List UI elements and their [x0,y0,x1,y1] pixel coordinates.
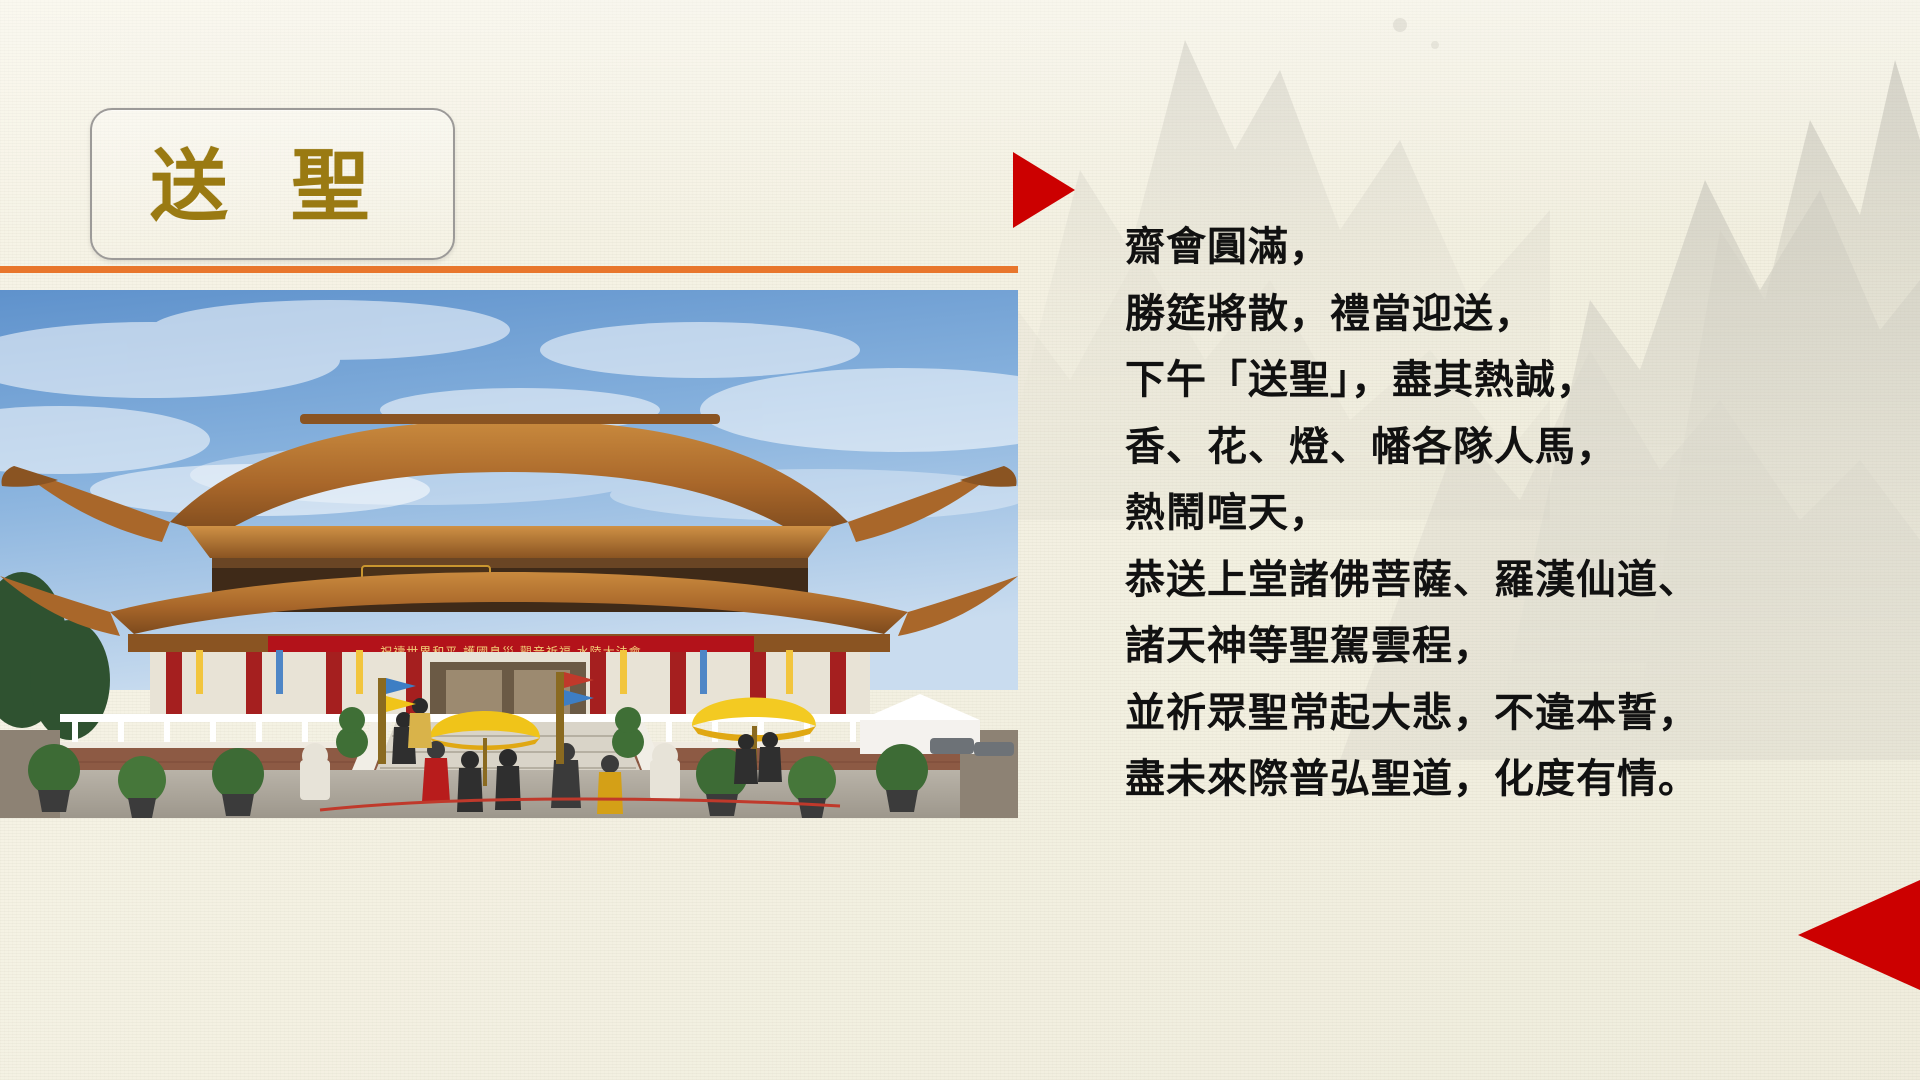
page-title: 送 聖 [150,105,450,255]
text-line: 恭送上堂諸佛菩薩、羅漢仙道、 [1125,547,1920,614]
temple-photo: 大 雄 寶 殿 祝禱世界和平 護國息災 觀音祈福 水陸大法會 [0,290,1018,818]
temple-photo-image: 大 雄 寶 殿 祝禱世界和平 護國息災 觀音祈福 水陸大法會 [0,290,1018,818]
play-triangle-icon [1013,152,1075,228]
text-line: 勝筵將散，禮當迎送， [1125,281,1920,348]
red-wedge-icon [1798,880,1920,990]
text-line: 盡未來際普弘聖道，化度有情。 [1125,746,1920,813]
text-line: 下午「送聖」，盡其熱誠， [1125,347,1920,414]
text-line: 齋會圓滿， [1125,214,1920,281]
body-text-block: 齋會圓滿， 勝筵將散，禮當迎送， 下午「送聖」，盡其熱誠， 香、花、燈、幡各隊人… [1125,214,1920,813]
slide-canvas: 送 聖 [0,0,1920,1080]
text-line: 並祈眾聖常起大悲，不違本誓， [1125,680,1920,747]
orange-divider [0,266,1018,273]
red-wedge-shape [1798,880,1920,990]
text-line: 熱鬧喧天， [1125,480,1920,547]
text-line: 諸天神等聖駕雲程， [1125,613,1920,680]
text-line: 香、花、燈、幡各隊人馬， [1125,414,1920,481]
